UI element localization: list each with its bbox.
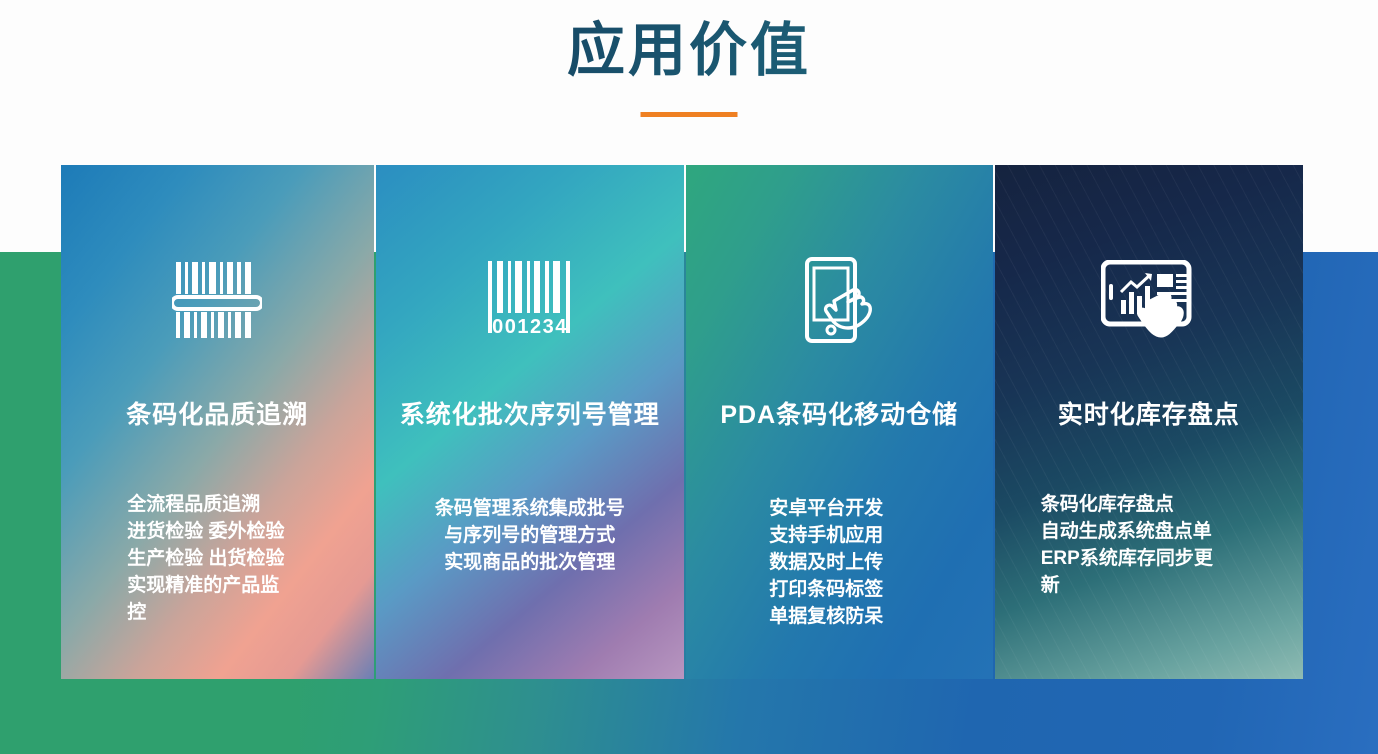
card-body-line: 全流程品质追溯 xyxy=(127,491,307,518)
barcode-number-icon: 001234 xyxy=(376,241,685,361)
card-body: 安卓平台开发 支持手机应用 数据及时上传 打印条码标签 单据复核防呆 xyxy=(686,495,993,630)
application-value-section: 应用价值 xyxy=(0,0,1378,754)
value-card-batch-serial[interactable]: 001234 系统化批次序列号管理 条码管理系统集成批号 与序列号的管理方式 实… xyxy=(376,165,685,679)
card-body: 条码化库存盘点 自动生成系统盘点单 ERP系统库存同步更 新 xyxy=(995,491,1304,599)
page-title: 应用价值 xyxy=(0,16,1378,86)
card-body-line: 打印条码标签 xyxy=(769,576,909,603)
card-body-line: 安卓平台开发 xyxy=(769,495,909,522)
card-body: 全流程品质追溯 进货检验 委外检验 生产检验 出货检验 实现精准的产品监 控 xyxy=(61,491,374,626)
barcode-scanner-icon xyxy=(61,241,374,361)
section-header: 应用价值 xyxy=(0,0,1378,165)
tablet-dashboard-touch-icon xyxy=(995,241,1304,361)
card-body-line: 单据复核防呆 xyxy=(769,603,909,630)
card-body-line: 与序列号的管理方式 xyxy=(416,522,644,549)
barcode-number-text: 001234 xyxy=(492,316,568,338)
card-title: 条码化品质追溯 xyxy=(61,395,374,431)
value-card-barcode-quality[interactable]: 条码化品质追溯 全流程品质追溯 进货检验 委外检验 生产检验 出货检验 实现精准… xyxy=(61,165,374,679)
card-body: 条码管理系统集成批号 与序列号的管理方式 实现商品的批次管理 xyxy=(376,495,685,576)
card-body-line: 实现精准的产品监 xyxy=(127,572,307,599)
card-body-line: ERP系统库存同步更 xyxy=(1041,545,1257,572)
card-body-line: 数据及时上传 xyxy=(769,549,909,576)
card-body-line: 条码管理系统集成批号 xyxy=(416,495,644,522)
card-title: 系统化批次序列号管理 xyxy=(376,395,685,431)
value-card-realtime-inventory[interactable]: 实时化库存盘点 条码化库存盘点 自动生成系统盘点单 ERP系统库存同步更 新 xyxy=(995,165,1304,679)
card-body-line: 自动生成系统盘点单 xyxy=(1041,518,1257,545)
card-body-line: 条码化库存盘点 xyxy=(1041,491,1257,518)
mobile-touch-icon xyxy=(686,241,993,361)
card-body-line: 新 xyxy=(1041,572,1257,599)
card-body-line: 控 xyxy=(127,599,307,626)
card-body-line: 实现商品的批次管理 xyxy=(416,549,644,576)
value-card-pda-warehouse[interactable]: PDA条码化移动仓储 安卓平台开发 支持手机应用 数据及时上传 打印条码标签 单… xyxy=(686,165,993,679)
card-body-line: 进货检验 委外检验 xyxy=(127,518,307,545)
value-card-list: 条码化品质追溯 全流程品质追溯 进货检验 委外检验 生产检验 出货检验 实现精准… xyxy=(61,165,1303,679)
card-body-line: 生产检验 出货检验 xyxy=(127,545,307,572)
card-title: 实时化库存盘点 xyxy=(995,395,1304,431)
card-title: PDA条码化移动仓储 xyxy=(686,395,993,431)
title-underline xyxy=(641,112,738,117)
card-body-line: 支持手机应用 xyxy=(769,522,909,549)
